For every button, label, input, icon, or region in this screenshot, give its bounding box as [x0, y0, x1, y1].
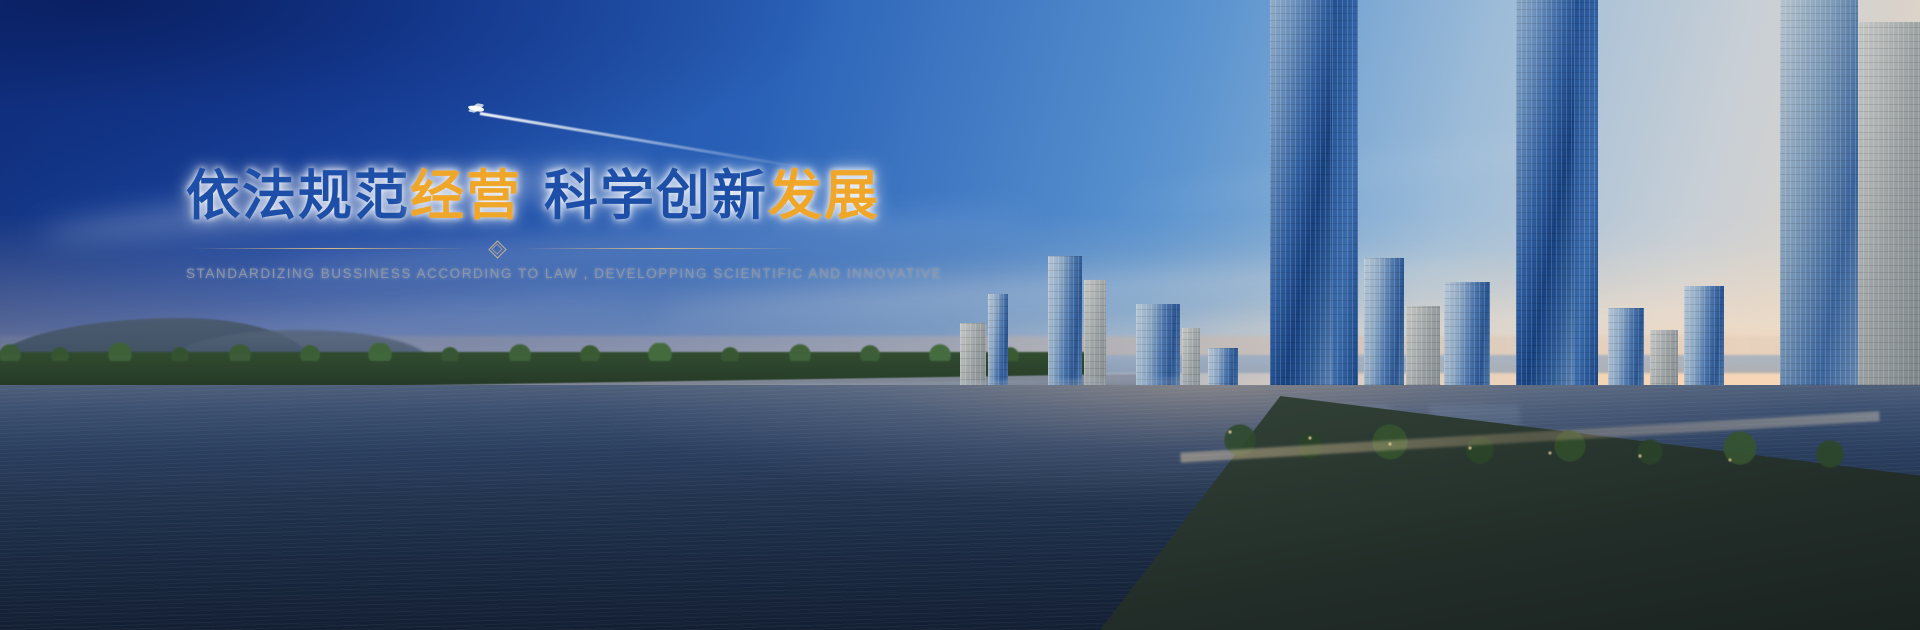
headline-segment-3: 科学创新: [544, 164, 768, 227]
skyscraper-right-edge: [1780, 0, 1858, 420]
building: [1858, 22, 1920, 420]
skyscraper-secondary: [1516, 0, 1574, 430]
ornament-divider: [193, 243, 799, 255]
headline-segment-1: 依法规范: [186, 164, 410, 227]
airplane-icon: [468, 104, 485, 112]
street-lights: [1200, 420, 1860, 466]
banner-text-block: 依法规范经营科学创新发展 STANDARDIZING BUSSINESS ACC…: [186, 168, 806, 281]
divider-line-left: [193, 248, 469, 249]
subtitle: STANDARDIZING BUSSINESS ACCORDING TO LAW…: [186, 266, 806, 281]
headline-segment-4: 发展: [768, 164, 880, 227]
skyscraper-primary: [1270, 0, 1332, 434]
divider-line-right: [523, 248, 799, 249]
skyscraper-primary-wing: [1332, 0, 1358, 434]
headline-segment-2: 经营: [410, 164, 522, 227]
hero-banner: 依法规范经营科学创新发展 STANDARDIZING BUSSINESS ACC…: [0, 0, 1920, 630]
skyscraper-secondary-wing: [1574, 0, 1598, 430]
headline: 依法规范经营科学创新发展: [186, 168, 806, 225]
